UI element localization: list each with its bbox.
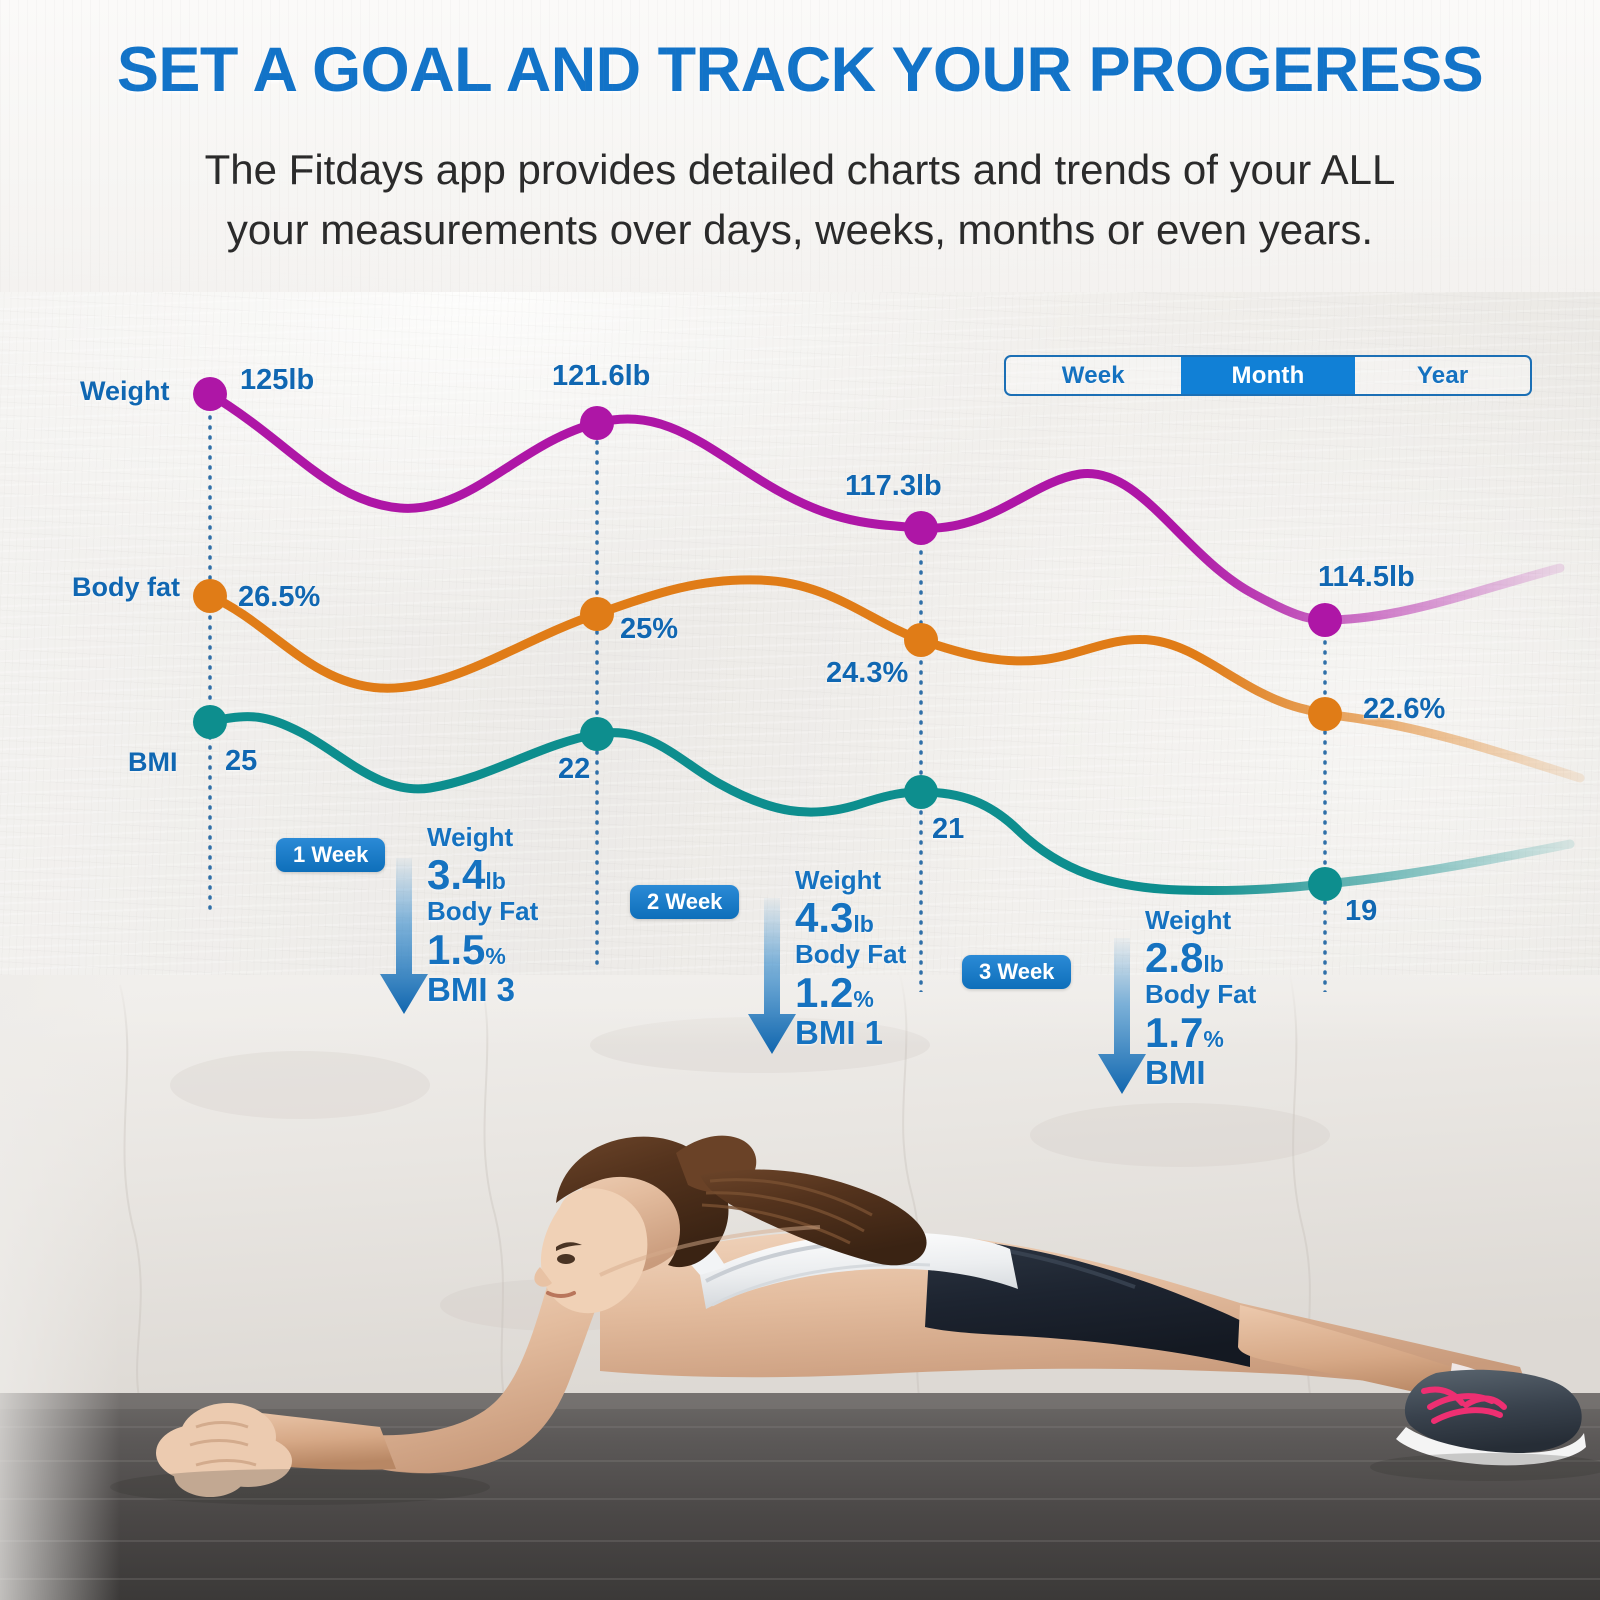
delta-bodyfat-value-3: 1.7% [1145, 1010, 1256, 1055]
bodyfat-point-1 [193, 579, 227, 613]
delta-bodyfat-key-3: Body Fat [1145, 980, 1256, 1009]
bodyfat-value-4: 22.6% [1363, 693, 1445, 726]
series-label-body-fat: Body fat [72, 572, 180, 603]
subtitle-line-2: your measurements over days, weeks, mont… [50, 200, 1550, 260]
header-band: SET A GOAL AND TRACK YOUR PROGERESS The … [0, 0, 1600, 292]
bodyfat-value-3: 24.3% [826, 657, 908, 690]
delta-bodyfat-value-2: 1.2% [795, 970, 906, 1015]
bmi-value-4: 19 [1345, 895, 1377, 928]
delta-bodyfat-unit-2: % [853, 986, 873, 1012]
delta-bodyfat-value-1: 1.5% [427, 927, 538, 972]
delta-bmi-3: BMI [1145, 1055, 1256, 1091]
subtitle-line-1: The Fitdays app provides detailed charts… [50, 140, 1550, 200]
down-arrow-icon-2 [744, 898, 800, 1061]
delta-stats-2: Weight 4.3lb Body Fat 1.2% BMI 1 [795, 866, 906, 1051]
bmi-value-3: 21 [932, 813, 964, 846]
weight-value-4: 114.5lb [1318, 561, 1415, 594]
delta-weight-number-3: 2.8 [1145, 934, 1203, 981]
weight-point-3 [904, 511, 938, 545]
range-selector[interactable]: Week Month Year [1004, 355, 1532, 396]
bmi-value-2: 22 [558, 753, 590, 786]
delta-weight-key-2: Weight [795, 866, 906, 895]
range-option-year[interactable]: Year [1355, 357, 1530, 394]
bmi-point-2 [580, 717, 614, 751]
delta-badge-3: 3 Week [962, 955, 1071, 989]
bodyfat-value-1: 26.5% [238, 581, 320, 614]
delta-weight-key-1: Weight [427, 823, 538, 852]
weight-value-1: 125lb [240, 364, 314, 397]
page-title: SET A GOAL AND TRACK YOUR PROGERESS [0, 34, 1600, 106]
bodyfat-points [193, 579, 1342, 731]
delta-weight-number-2: 4.3 [795, 894, 853, 941]
delta-weight-unit-1: lb [485, 868, 505, 894]
delta-weight-key-3: Weight [1145, 906, 1256, 935]
page-subtitle: The Fitdays app provides detailed charts… [50, 140, 1550, 259]
weight-points [193, 377, 1342, 637]
delta-stats-3: Weight 2.8lb Body Fat 1.7% BMI [1145, 906, 1256, 1091]
delta-weight-unit-2: lb [853, 911, 873, 937]
delta-bmi-2: BMI 1 [795, 1015, 906, 1051]
delta-stats-1: Weight 3.4lb Body Fat 1.5% BMI 3 [427, 823, 538, 1008]
down-arrow-icon-1 [376, 858, 432, 1021]
range-option-week[interactable]: Week [1006, 357, 1181, 394]
delta-bmi-1: BMI 3 [427, 972, 538, 1008]
weight-value-3: 117.3lb [845, 470, 942, 503]
range-option-month[interactable]: Month [1181, 357, 1356, 394]
bodyfat-point-4 [1308, 697, 1342, 731]
fitness-photo [0, 975, 1600, 1600]
delta-bodyfat-key-1: Body Fat [427, 897, 538, 926]
series-label-weight: Weight [80, 376, 170, 407]
bmi-point-4 [1308, 867, 1342, 901]
delta-weight-number-1: 3.4 [427, 851, 485, 898]
delta-bodyfat-number-1: 1.5 [427, 926, 485, 973]
weight-point-4 [1308, 603, 1342, 637]
delta-weight-value-1: 3.4lb [427, 852, 538, 897]
delta-bodyfat-number-2: 1.2 [795, 969, 853, 1016]
delta-badge-2: 2 Week [630, 885, 739, 919]
bodyfat-point-3 [904, 623, 938, 657]
delta-weight-value-2: 4.3lb [795, 895, 906, 940]
delta-bodyfat-unit-1: % [485, 943, 505, 969]
bmi-value-1: 25 [225, 745, 257, 778]
weight-point-1 [193, 377, 227, 411]
down-arrow-icon-3 [1094, 938, 1150, 1101]
series-label-bmi: BMI [128, 747, 178, 778]
delta-bodyfat-number-3: 1.7 [1145, 1009, 1203, 1056]
delta-weight-value-3: 2.8lb [1145, 935, 1256, 980]
weight-value-2: 121.6lb [552, 360, 650, 393]
delta-bodyfat-unit-3: % [1203, 1026, 1223, 1052]
bodyfat-point-2 [580, 597, 614, 631]
delta-badge-1: 1 Week [276, 838, 385, 872]
infographic-root: SET A GOAL AND TRACK YOUR PROGERESS The … [0, 0, 1600, 1600]
delta-weight-unit-3: lb [1203, 951, 1223, 977]
weight-point-2 [580, 406, 614, 440]
delta-bodyfat-key-2: Body Fat [795, 940, 906, 969]
bmi-point-3 [904, 775, 938, 809]
bodyfat-value-2: 25% [620, 613, 678, 646]
bmi-point-1 [193, 705, 227, 739]
